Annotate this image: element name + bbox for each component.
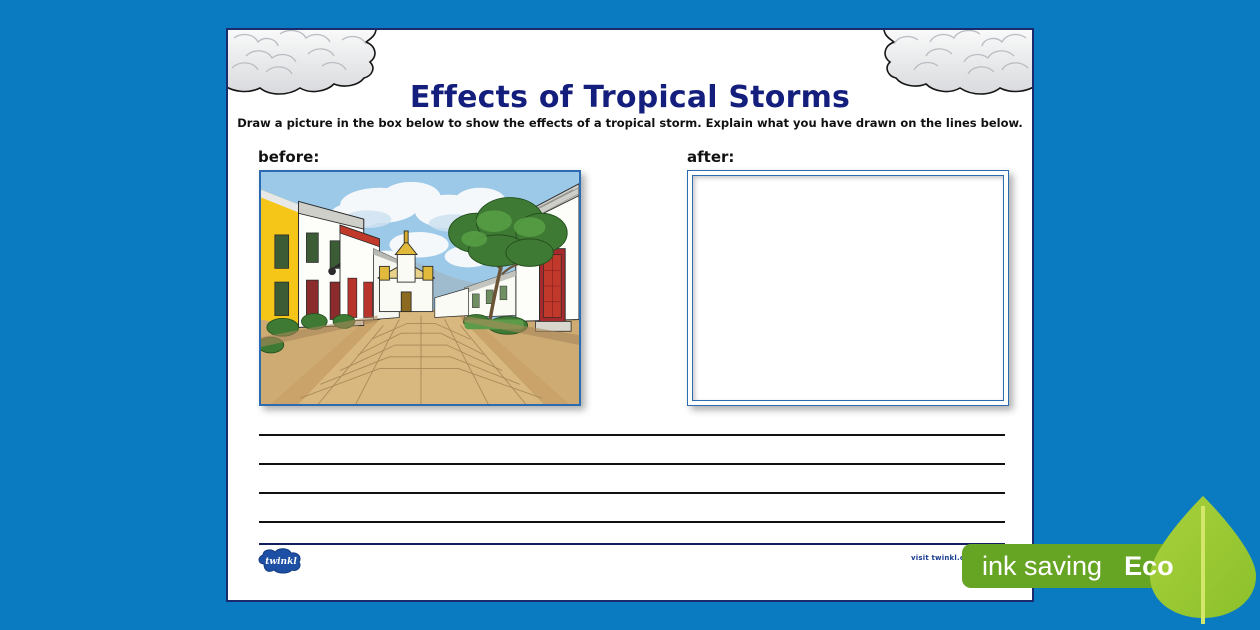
eco-badge-text: ink savingEco (982, 546, 1174, 586)
before-label: before: (258, 148, 319, 166)
worksheet-page: Effects of Tropical Storms Draw a pictur… (226, 28, 1034, 602)
after-drawing-area[interactable] (692, 175, 1004, 401)
eco-label-secondary: Eco (1124, 551, 1174, 581)
writing-line[interactable] (259, 521, 1005, 523)
page-title: Effects of Tropical Storms (228, 80, 1032, 115)
twinkl-logo[interactable]: twinkl (256, 548, 306, 574)
svg-text:twinkl: twinkl (265, 557, 297, 567)
eco-label-primary: ink saving (982, 551, 1102, 581)
instruction-text: Draw a picture in the box below to show … (228, 116, 1032, 130)
after-label: after: (687, 148, 734, 166)
before-illustration (261, 172, 579, 404)
after-drawing-box[interactable] (687, 170, 1009, 406)
footer-divider (259, 543, 1005, 545)
before-picture-frame (259, 170, 581, 406)
writing-line[interactable] (259, 463, 1005, 465)
writing-lines (259, 434, 1005, 550)
ink-saving-eco-badge: ink savingEco (962, 538, 1260, 594)
writing-line[interactable] (259, 492, 1005, 494)
writing-line[interactable] (259, 434, 1005, 436)
